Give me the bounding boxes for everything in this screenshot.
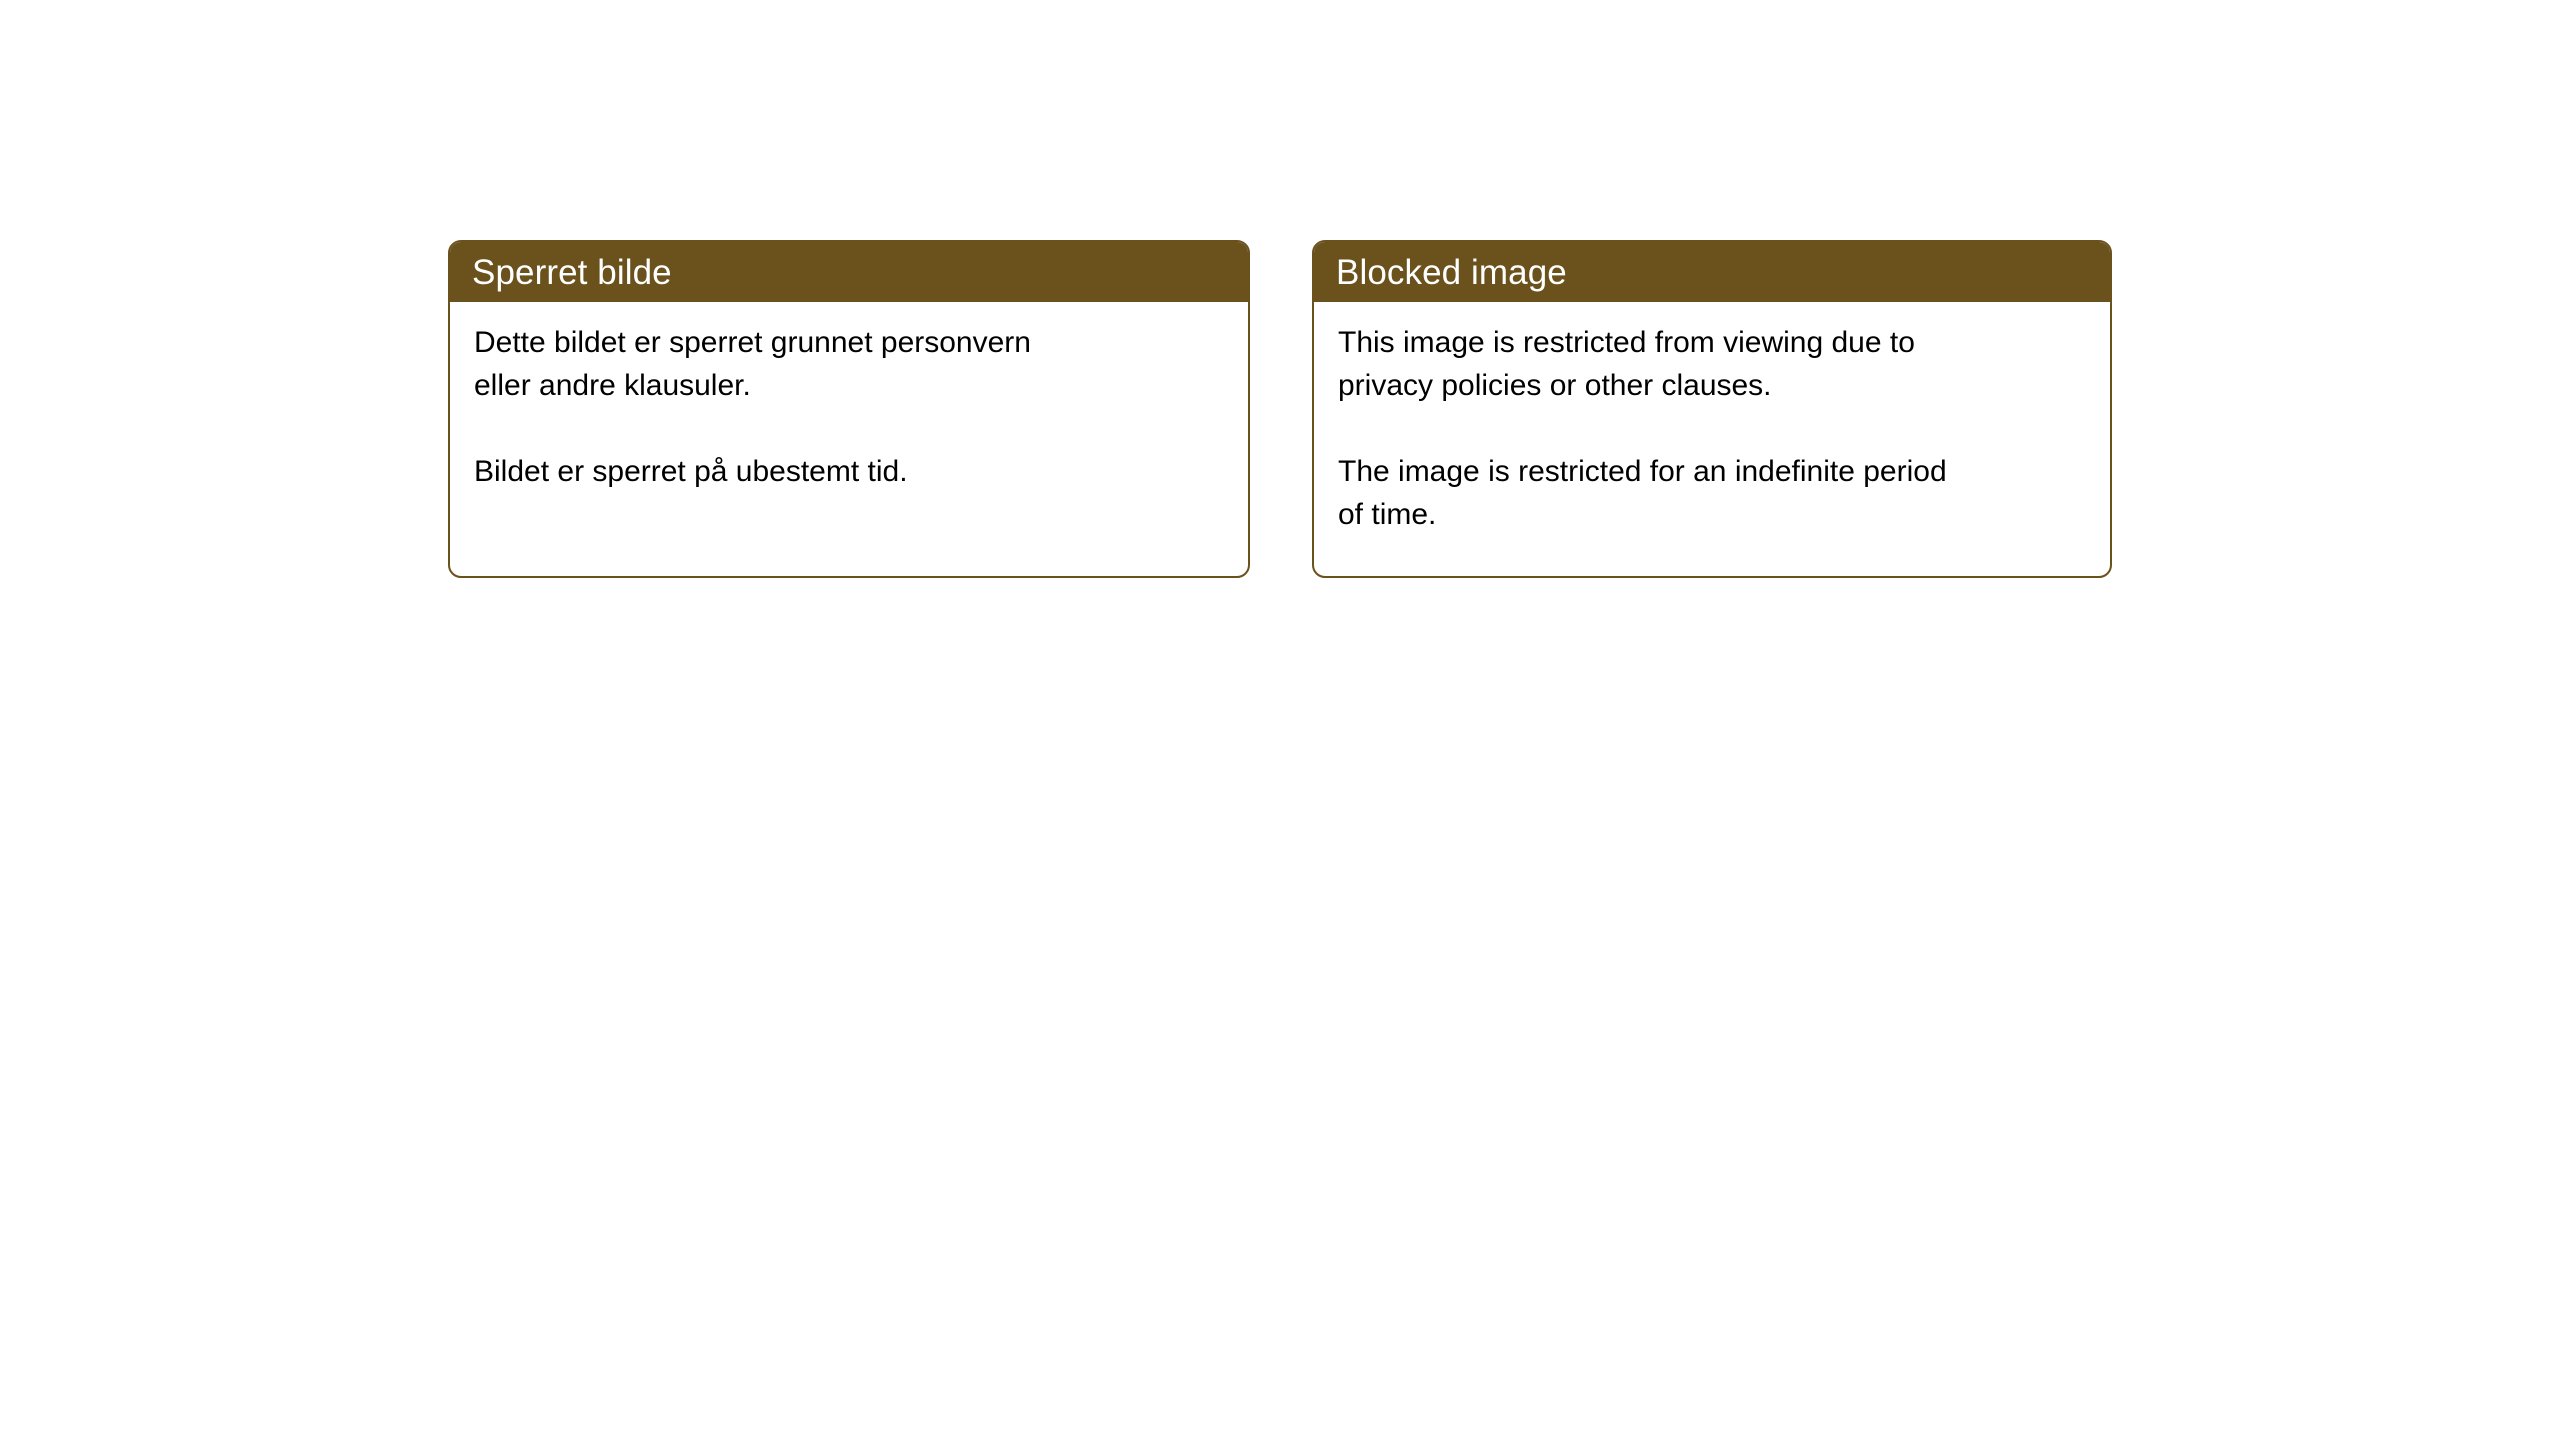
card-paragraph-primary-english: This image is restricted from viewing du…: [1338, 321, 2086, 407]
paragraph-spacer: [1338, 407, 2086, 450]
blocked-image-notice-card-norwegian: Sperret bilde Dette bildet er sperret gr…: [448, 240, 1250, 578]
card-header-norwegian: Sperret bilde: [448, 240, 1250, 302]
card-paragraph-primary-norwegian: Dette bildet er sperret grunnet personve…: [474, 321, 1224, 407]
card-title-norwegian: Sperret bilde: [472, 255, 672, 290]
paragraph-spacer: [474, 407, 1224, 450]
card-body-english: This image is restricted from viewing du…: [1314, 302, 2110, 536]
card-title-english: Blocked image: [1336, 255, 1567, 290]
blocked-image-notice-card-english: Blocked image This image is restricted f…: [1312, 240, 2112, 578]
card-header-english: Blocked image: [1312, 240, 2112, 302]
card-body-norwegian: Dette bildet er sperret grunnet personve…: [450, 302, 1248, 493]
card-paragraph-secondary-norwegian: Bildet er sperret på ubestemt tid.: [474, 450, 1224, 493]
card-paragraph-secondary-english: The image is restricted for an indefinit…: [1338, 450, 2086, 536]
page-canvas: Sperret bilde Dette bildet er sperret gr…: [0, 0, 2560, 1440]
